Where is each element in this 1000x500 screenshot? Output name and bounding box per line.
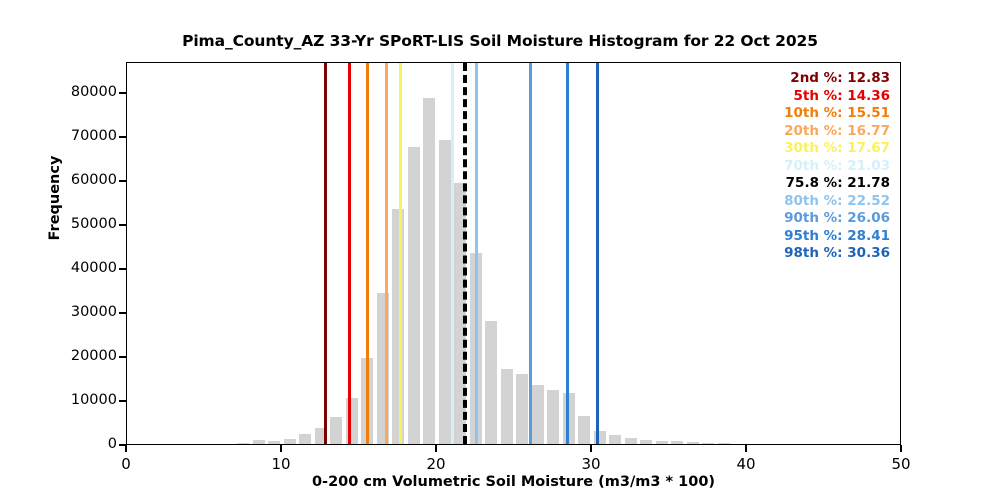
percentile-legend: 2nd %: 12.835th %: 14.3610th %: 15.5120t…: [778, 67, 896, 267]
legend-entry: 90th %: 26.06: [784, 210, 890, 228]
histogram-bar: [547, 390, 559, 444]
y-tick-label: 80000: [29, 84, 117, 100]
histogram-bar: [501, 369, 513, 444]
y-tick-label: 20000: [29, 348, 117, 364]
histogram-bar: [299, 434, 311, 444]
percentile-line-5th: [348, 63, 351, 444]
plot-area: 2nd %: 12.835th %: 14.3610th %: 15.5120t…: [126, 62, 901, 445]
y-tick: [119, 268, 126, 270]
y-tick-label: 60000: [29, 172, 117, 188]
histogram-bar: [687, 442, 699, 444]
histogram-bar: [516, 374, 528, 444]
histogram-bar: [408, 147, 420, 444]
percentile-line-30th: [399, 63, 402, 444]
y-tick-label: 40000: [29, 260, 117, 276]
legend-entry: 10th %: 15.51: [784, 105, 890, 123]
y-tick-label: 10000: [29, 392, 117, 408]
y-tick-label: 50000: [29, 216, 117, 232]
x-tick: [745, 445, 747, 452]
y-tick: [119, 180, 126, 182]
y-axis-label: Frequency: [47, 98, 63, 298]
legend-entry: 30th %: 17.67: [784, 140, 890, 158]
histogram-bar: [268, 441, 280, 444]
x-tick-label: 10: [251, 455, 311, 473]
percentile-line-95th: [566, 63, 569, 444]
percentile-line-75.8: [463, 63, 467, 444]
legend-entry: 75.8 %: 21.78: [784, 175, 890, 193]
x-axis-label: 0-200 cm Volumetric Soil Moisture (m3/m3…: [126, 474, 901, 490]
percentile-line-2nd: [324, 63, 327, 444]
legend-entry: 70th %: 21.03: [784, 158, 890, 176]
percentile-line-80th: [475, 63, 478, 444]
x-tick: [125, 445, 127, 452]
x-tick-label: 40: [716, 455, 776, 473]
histogram-bar: [284, 439, 296, 444]
histogram-bar: [423, 98, 435, 444]
x-tick-label: 0: [96, 455, 156, 473]
y-tick: [119, 400, 126, 402]
x-tick-label: 50: [871, 455, 931, 473]
legend-entry: 80th %: 22.52: [784, 193, 890, 211]
histogram-bar: [392, 209, 404, 444]
chart-title: Pima_County_AZ 33-Yr SPoRT-LIS Soil Mois…: [0, 32, 1000, 50]
x-tick-label: 30: [561, 455, 621, 473]
percentile-line-20th: [385, 63, 388, 444]
histogram-bar: [578, 416, 590, 444]
legend-entry: 2nd %: 12.83: [784, 70, 890, 88]
percentile-line-70th: [451, 63, 454, 444]
histogram-bar: [237, 443, 249, 444]
histogram-bar: [439, 140, 451, 444]
legend-entry: 98th %: 30.36: [784, 245, 890, 263]
histogram-bar: [671, 441, 683, 444]
x-tick: [280, 445, 282, 452]
y-tick-label: 70000: [29, 128, 117, 144]
y-tick: [119, 312, 126, 314]
histogram-bar: [330, 417, 342, 444]
y-tick-label: 0: [29, 436, 117, 452]
histogram-bar: [640, 440, 652, 444]
y-tick: [119, 356, 126, 358]
histogram-bar: [609, 435, 621, 444]
y-tick: [119, 92, 126, 94]
x-tick: [900, 445, 902, 452]
histogram-bar: [656, 441, 668, 444]
histogram-bar: [625, 438, 637, 444]
histogram-bar: [718, 443, 730, 444]
x-tick: [590, 445, 592, 452]
y-tick: [119, 136, 126, 138]
percentile-line-98th: [596, 63, 599, 444]
x-tick-label: 20: [406, 455, 466, 473]
legend-entry: 5th %: 14.36: [784, 88, 890, 106]
histogram-bar: [702, 443, 714, 444]
percentile-line-10th: [366, 63, 369, 444]
legend-entry: 95th %: 28.41: [784, 228, 890, 246]
histogram-bar: [532, 385, 544, 444]
x-tick: [435, 445, 437, 452]
chart-canvas: Pima_County_AZ 33-Yr SPoRT-LIS Soil Mois…: [0, 0, 1000, 500]
y-tick-label: 30000: [29, 304, 117, 320]
legend-entry: 20th %: 16.77: [784, 123, 890, 141]
percentile-line-90th: [529, 63, 532, 444]
histogram-bar: [253, 440, 265, 444]
y-tick: [119, 224, 126, 226]
histogram-bar: [485, 321, 497, 444]
